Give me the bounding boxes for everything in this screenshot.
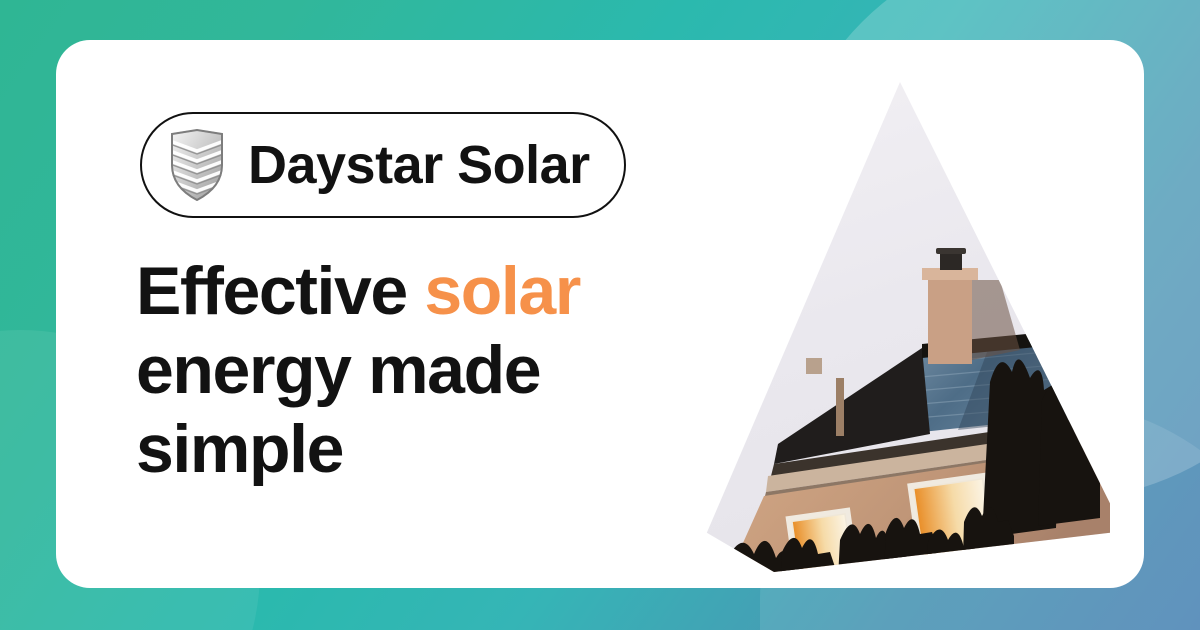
content-card: Daystar Solar Effective solar energy mad… xyxy=(56,40,1144,588)
hero-banner: Daystar Solar Effective solar energy mad… xyxy=(0,0,1200,630)
headline-line2: energy made xyxy=(136,332,540,408)
brand-badge[interactable]: Daystar Solar xyxy=(140,112,626,218)
hero-photo-illustration xyxy=(690,82,1110,572)
hero-photo xyxy=(690,82,1110,572)
brand-name: Daystar Solar xyxy=(248,138,590,192)
headline-line1-prefix: Effective xyxy=(136,253,424,329)
headline-line3: simple xyxy=(136,411,343,487)
headline: Effective solar energy made simple xyxy=(136,252,676,489)
headline-accent-word: solar xyxy=(424,253,580,329)
shield-chevron-logo-icon xyxy=(168,129,226,201)
